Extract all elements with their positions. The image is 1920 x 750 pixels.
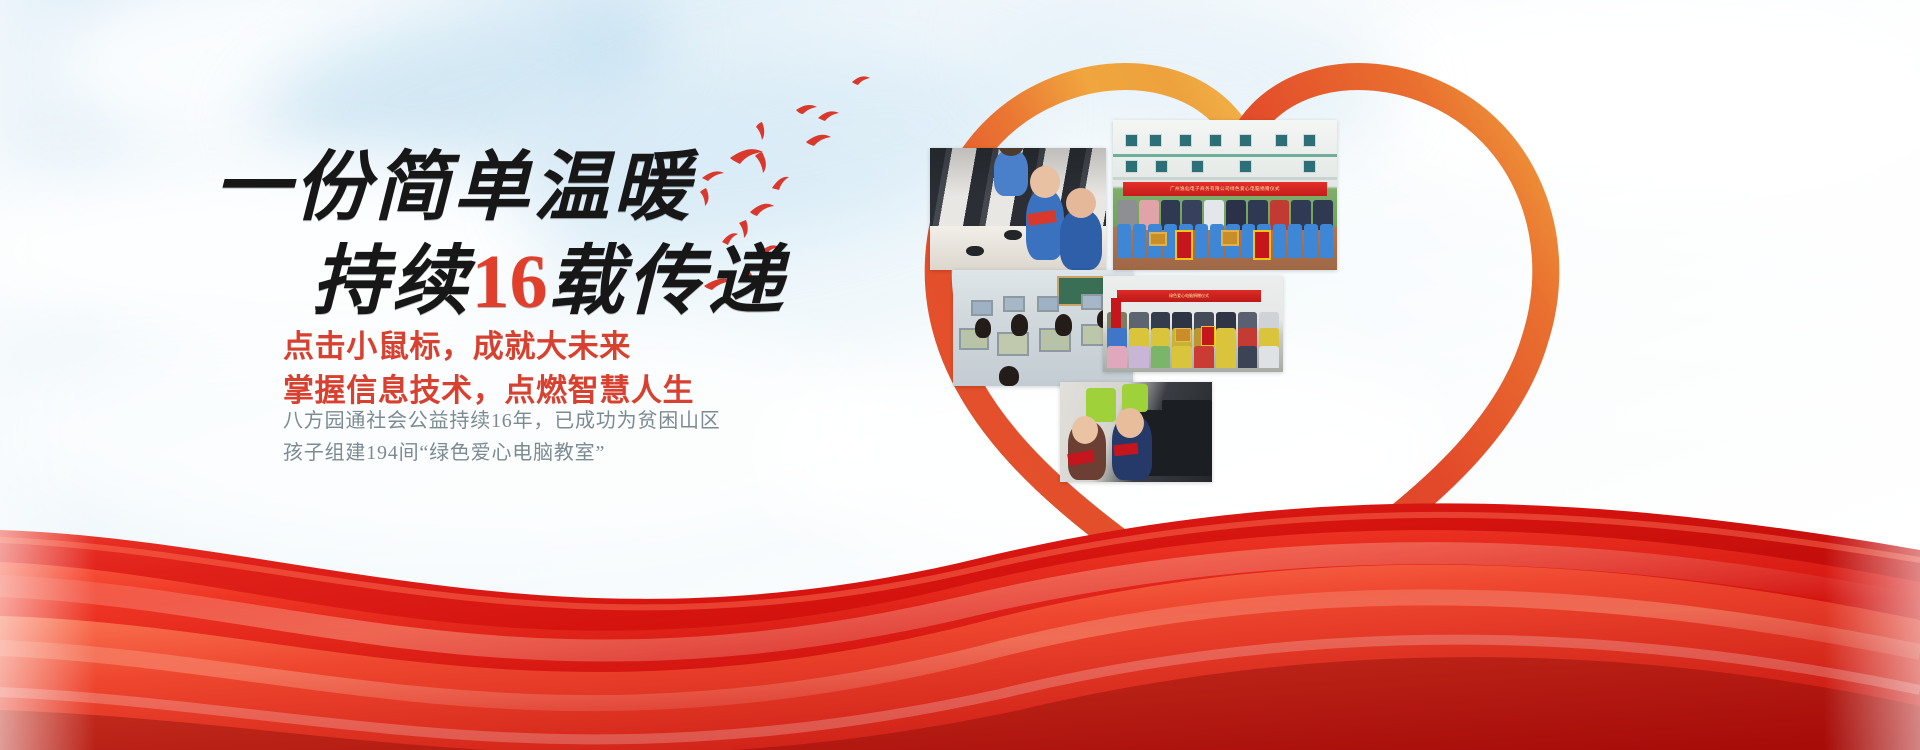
subheadline-block: 点击小鼠标，成就大未来 掌握信息技术，点燃智慧人生 xyxy=(283,325,694,413)
award-plaque xyxy=(1175,328,1191,342)
photo-computer-lab-mice xyxy=(930,148,1106,270)
mouse-icon xyxy=(1004,230,1022,240)
cloud-shape xyxy=(40,0,600,170)
photo-ceremony-group: 绿色爱心电脑捐赠仪式 xyxy=(1103,276,1283,372)
award-plaque xyxy=(1149,232,1167,246)
subheadline-line-1: 点击小鼠标，成就大未来 xyxy=(283,325,694,369)
cloud-shape xyxy=(238,0,682,209)
cloud-shape xyxy=(0,150,560,350)
donation-ceremony-banner: 广州逸仙电子商务有限公司绿色爱心电脑捐赠仪式 xyxy=(1123,182,1327,196)
ceremony-banner: 绿色爱心电脑捐赠仪式 xyxy=(1117,290,1261,302)
wall-banner xyxy=(1111,298,1121,328)
award-plaque xyxy=(1221,230,1239,246)
mouse-icon xyxy=(966,246,984,256)
public-welfare-banner: 一份简单温暖 持续16载传递 点击小鼠标，成就大未来 掌握信息技术，点燃智慧人生… xyxy=(0,0,1920,750)
award-pennant xyxy=(1175,230,1193,260)
flying-birds-icon xyxy=(700,60,960,320)
red-silk-ribbon xyxy=(0,410,1920,750)
photo-school-group-donation: 广州逸仙电子商务有限公司绿色爱心电脑捐赠仪式 xyxy=(1113,120,1337,270)
award-pennant xyxy=(1253,230,1271,260)
award-pennant xyxy=(1201,326,1215,346)
